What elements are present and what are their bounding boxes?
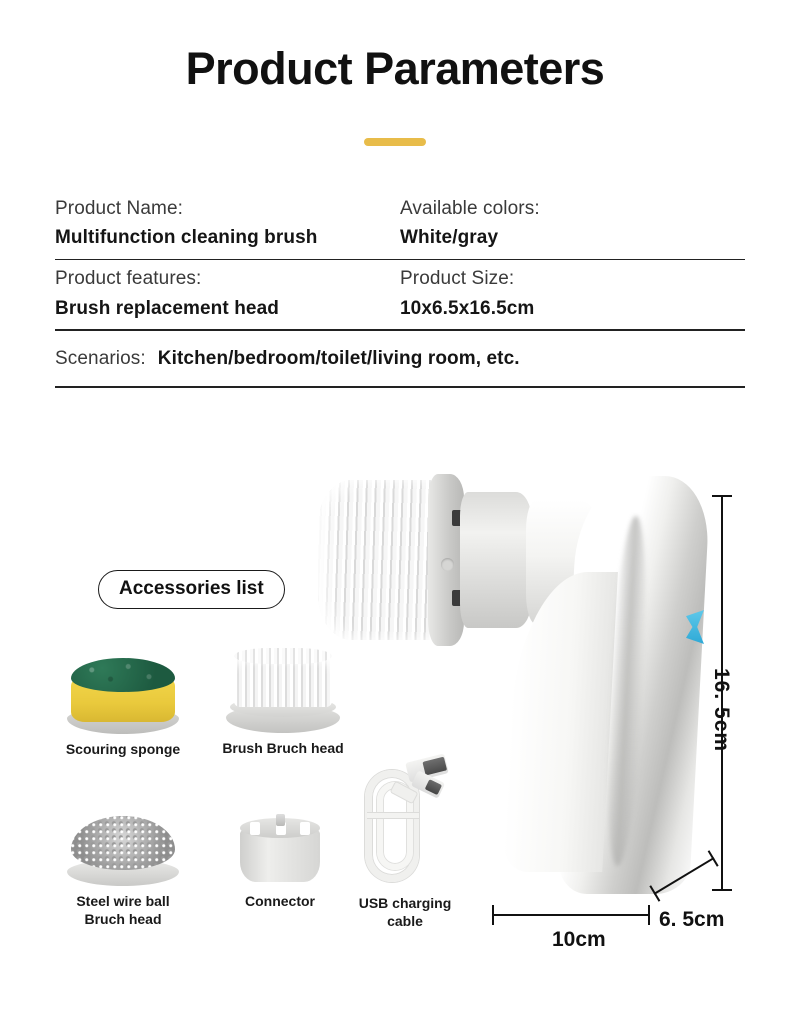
label-product-size: Product Size: — [400, 264, 745, 293]
product-handle — [557, 476, 711, 894]
label-available-colors: Available colors: — [400, 194, 745, 223]
spec-cell-product-name: Product Name: Multifunction cleaning bru… — [55, 190, 400, 259]
accessory-brush-bruch-head: Brush Bruch head — [218, 645, 348, 758]
accessory-steel-wire-ball: Steel wire ball Bruch head — [58, 800, 188, 928]
label-product-features: Product features: — [55, 264, 400, 293]
accessory-scouring-sponge: Scouring sponge — [58, 648, 188, 759]
connector-icon — [228, 808, 332, 886]
accessory-label-connector: Connector — [220, 893, 340, 911]
value-product-name: Multifunction cleaning brush — [55, 223, 400, 252]
brush-head-plate — [428, 474, 464, 646]
dimension-label-height: 16. 5cm — [709, 668, 733, 752]
brush-bristles — [318, 480, 442, 640]
label-scenarios: Scenarios: — [55, 344, 146, 373]
scouring-sponge-icon — [65, 648, 181, 734]
accessory-connector: Connector — [220, 808, 340, 911]
brush-bruch-head-icon — [222, 645, 344, 733]
head-plate-dot — [441, 558, 454, 571]
divider-3 — [55, 386, 745, 388]
spec-cell-available-colors: Available colors: White/gray — [400, 190, 745, 259]
steel-wire-ball-icon — [63, 800, 183, 886]
product-parameters-page: Product Parameters Product Name: Multifu… — [0, 0, 790, 1024]
title-accent-bar — [364, 138, 426, 146]
value-scenarios: Kitchen/bedroom/toilet/living room, etc. — [158, 344, 520, 373]
accessory-label-steel-wire-ball: Steel wire ball Bruch head — [58, 893, 188, 928]
accessories-list-badge: Accessories list — [98, 570, 285, 609]
accessory-label-usb-charging-cable: USB charging cable — [345, 895, 465, 930]
brush-collar — [460, 492, 532, 628]
page-title: Product Parameters — [0, 44, 790, 94]
accessory-label-scouring-sponge: Scouring sponge — [58, 741, 188, 759]
dimension-label-width: 10cm — [552, 928, 606, 952]
spec-row-2: Product features: Brush replacement head… — [55, 260, 745, 329]
spec-table: Product Name: Multifunction cleaning bru… — [55, 190, 745, 388]
spec-cell-product-size: Product Size: 10x6.5x16.5cm — [400, 260, 745, 329]
usb-charging-cable-icon — [351, 752, 459, 888]
value-product-features: Brush replacement head — [55, 294, 400, 323]
spec-row-1: Product Name: Multifunction cleaning bru… — [55, 190, 745, 259]
value-product-size: 10x6.5x16.5cm — [400, 294, 745, 323]
accessory-label-brush-bruch-head: Brush Bruch head — [218, 740, 348, 758]
dimension-label-depth: 6. 5cm — [659, 908, 724, 932]
value-available-colors: White/gray — [400, 223, 745, 252]
accessory-usb-charging-cable: USB charging cable — [345, 752, 465, 930]
dimension-line-width — [492, 914, 650, 916]
label-product-name: Product Name: — [55, 194, 400, 223]
spec-cell-product-features: Product features: Brush replacement head — [55, 260, 400, 329]
spec-row-scenarios: Scenarios: Kitchen/bedroom/toilet/living… — [55, 331, 745, 386]
